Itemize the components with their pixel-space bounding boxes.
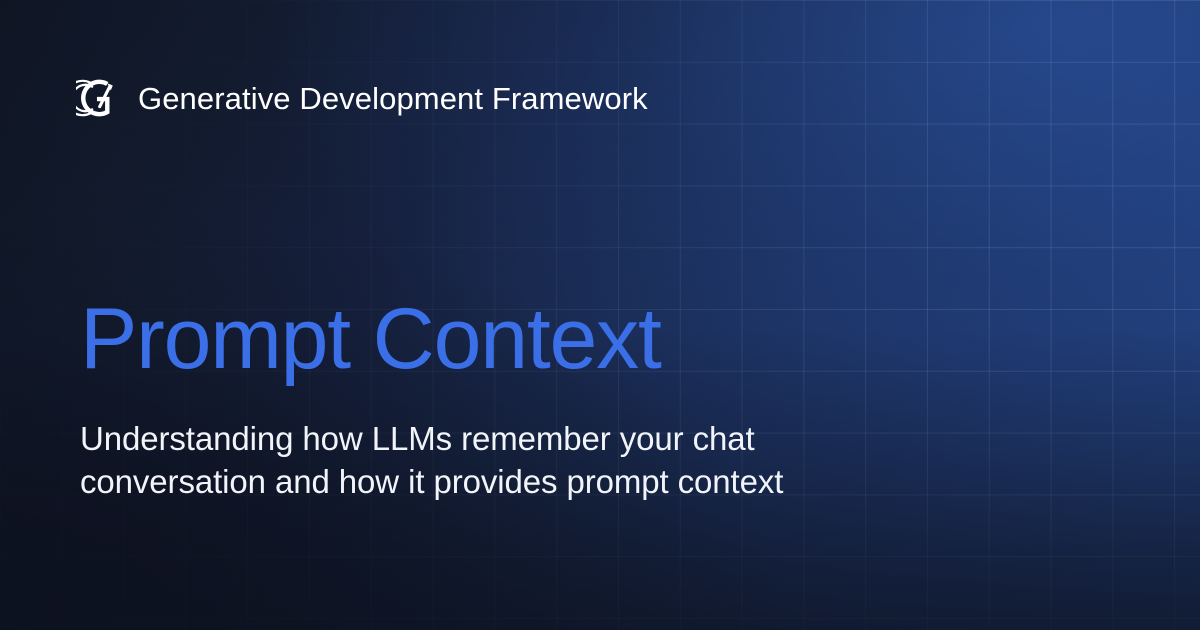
og-card: Generative Development Framework Prompt … [0, 0, 1200, 630]
page-subtitle: Understanding how LLMs remember your cha… [80, 418, 810, 504]
brand-header: Generative Development Framework [76, 76, 648, 120]
page-title: Prompt Context [80, 296, 940, 382]
hero-content: Prompt Context Understanding how LLMs re… [80, 296, 940, 504]
brand-name: Generative Development Framework [138, 83, 648, 114]
generative-g-monogram-icon [76, 76, 120, 120]
